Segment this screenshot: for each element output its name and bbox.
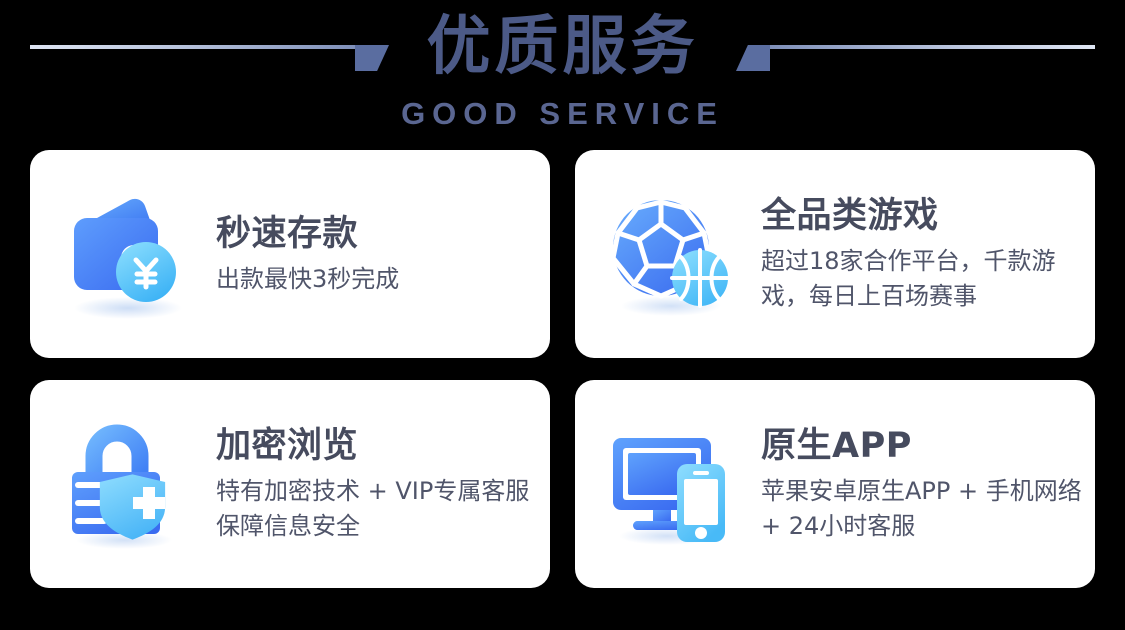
card-title: 秒速存款: [216, 212, 399, 256]
feature-card-grid: 秒速存款 出款最快3秒完成: [30, 150, 1095, 588]
card-title: 全品类游戏: [761, 194, 1095, 238]
card-text-block: 原生APP 苹果安卓原生APP + 手机网络 + 24小时客服: [761, 424, 1095, 544]
card-text-block: 加密浏览 特有加密技术 + VIP专属客服保障信息安全: [216, 424, 550, 544]
card-text-block: 秒速存款 出款最快3秒完成: [216, 212, 399, 297]
feature-card-native-app[interactable]: 原生APP 苹果安卓原生APP + 手机网络 + 24小时客服: [575, 380, 1095, 588]
card-description: 苹果安卓原生APP + 手机网络 + 24小时客服: [761, 474, 1095, 544]
page-header: 优质服务 GOOD SERVICE: [0, 0, 1125, 146]
card-description: 特有加密技术 + VIP专属客服保障信息安全: [216, 474, 550, 544]
wallet-yen-icon: [58, 186, 194, 322]
lock-shield-icon: [58, 416, 194, 552]
monitor-phone-icon: [603, 416, 739, 552]
soccer-basketball-icon: [603, 186, 739, 322]
card-description: 出款最快3秒完成: [216, 262, 399, 297]
card-text-block: 全品类游戏 超过18家合作平台，千款游戏，每日上百场赛事: [761, 194, 1095, 314]
feature-card-games[interactable]: 全品类游戏 超过18家合作平台，千款游戏，每日上百场赛事: [575, 150, 1095, 358]
feature-card-deposit[interactable]: 秒速存款 出款最快3秒完成: [30, 150, 550, 358]
card-title: 原生APP: [761, 424, 1095, 468]
page-subtitle: GOOD SERVICE: [0, 96, 1125, 132]
card-description: 超过18家合作平台，千款游戏，每日上百场赛事: [761, 244, 1095, 314]
card-title: 加密浏览: [216, 424, 550, 468]
page-title: 优质服务: [0, 8, 1125, 86]
feature-card-encryption[interactable]: 加密浏览 特有加密技术 + VIP专属客服保障信息安全: [30, 380, 550, 588]
